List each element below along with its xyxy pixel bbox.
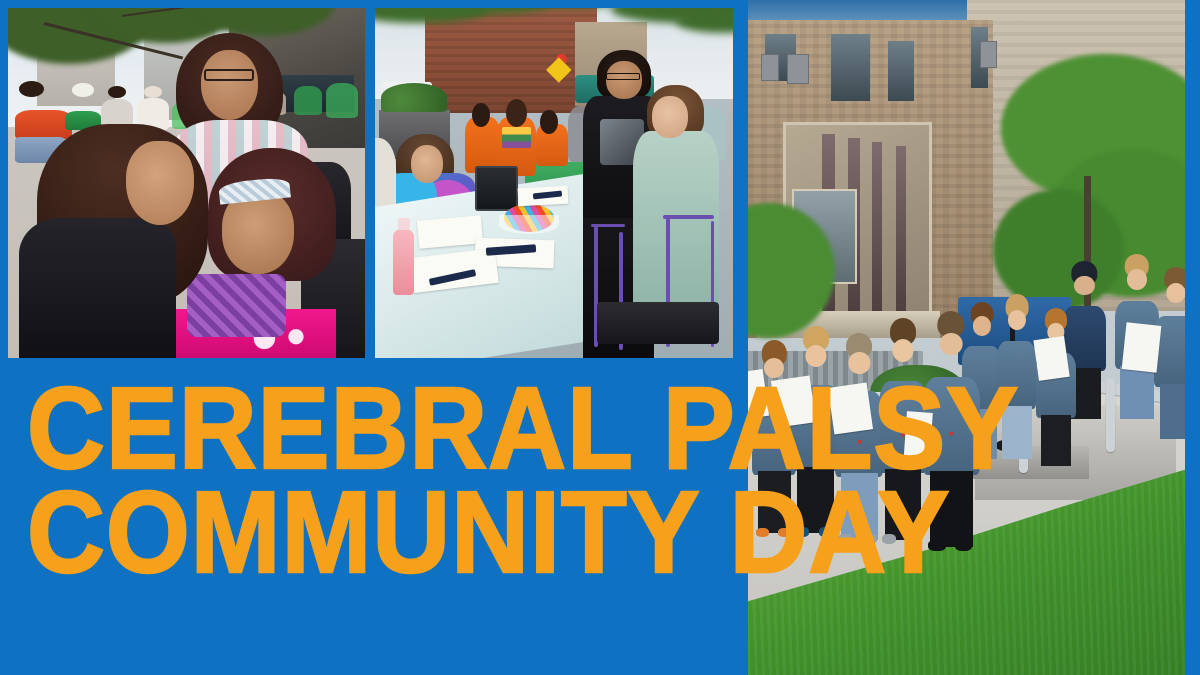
person-head	[472, 103, 490, 128]
woman-face	[201, 50, 258, 120]
person-head	[144, 86, 162, 98]
person-head	[540, 110, 558, 135]
person-body	[326, 83, 358, 118]
song-sheet	[1034, 336, 1070, 380]
teen-face	[126, 141, 194, 225]
person-cap	[72, 83, 93, 96]
volunteer-tee-graphic	[502, 127, 531, 148]
flyer	[417, 215, 484, 249]
person-orange-shirt	[15, 110, 72, 139]
woman-face	[652, 96, 688, 138]
song-sheet	[1121, 322, 1161, 373]
person-body	[294, 86, 323, 115]
title-line-2: COMMUNITY DAY	[27, 480, 678, 584]
poster-canvas: ♥ ♥	[0, 0, 1200, 675]
choir-member	[1154, 277, 1185, 439]
walker-seat	[597, 302, 719, 344]
water-bottle	[393, 229, 414, 296]
eyeglasses-icon	[606, 73, 640, 81]
teen-black-tshirt	[19, 218, 176, 358]
person-head	[108, 86, 126, 98]
patterned-scarf	[187, 274, 287, 337]
photo-info-table	[375, 8, 733, 358]
photo-family-street-fair	[8, 8, 365, 358]
person-head	[506, 99, 527, 127]
title-line-1: CEREBRAL PALSY	[27, 376, 678, 480]
person-head	[19, 81, 44, 97]
poster-title: CEREBRAL PALSY COMMUNITY DAY	[27, 376, 727, 584]
woman-face	[411, 145, 443, 184]
tablet-device	[475, 166, 518, 212]
eyeglasses-icon	[204, 69, 254, 81]
candy-bowl	[499, 215, 560, 234]
